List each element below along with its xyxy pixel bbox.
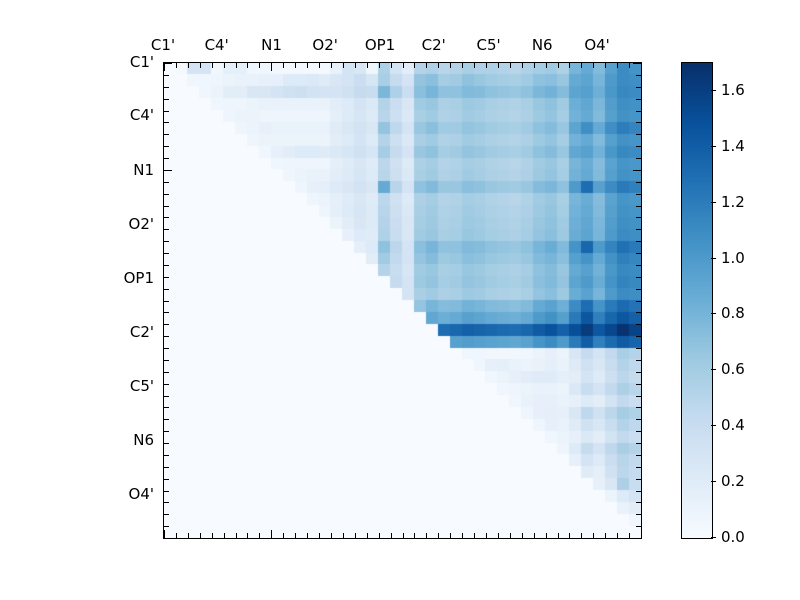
y-tick-label: C2' [0, 323, 154, 341]
y-tick-label: O2' [0, 215, 154, 233]
colorbar-tick-label: 0.8 [721, 304, 745, 322]
colorbar-tick [711, 369, 716, 370]
colorbar-tick [711, 481, 716, 482]
colorbar-tick [711, 146, 716, 147]
y-tick-label: OP1 [0, 269, 154, 287]
y-tick-label: C1' [0, 53, 154, 71]
y-tick-label: N1 [0, 161, 154, 179]
x-tick-label: N1 [261, 36, 282, 54]
colorbar-tick-label: 0.6 [721, 360, 745, 378]
y-axis-ticks-right [164, 63, 641, 538]
y-tick-label: C4' [0, 106, 154, 124]
colorbar-tick-label: 0.0 [721, 528, 745, 546]
x-tick-label: C2' [422, 36, 446, 54]
x-tick-label: O4' [584, 36, 609, 54]
colorbar-tick-label: 1.0 [721, 249, 745, 267]
colorbar-tick-label: 1.2 [721, 193, 745, 211]
colorbar-tick-label: 0.2 [721, 472, 745, 490]
y-tick-label: N6 [0, 431, 154, 449]
colorbar-tick [711, 537, 716, 538]
x-tick-label: O2' [312, 36, 337, 54]
colorbar-ticks: 0.00.20.40.60.81.01.21.41.6 [681, 62, 800, 537]
y-tick-label: O4' [0, 485, 154, 503]
colorbar-tick-label: 1.6 [721, 81, 745, 99]
x-tick-label: C1' [151, 36, 175, 54]
colorbar-tick [711, 90, 716, 91]
colorbar-tick [711, 313, 716, 314]
heatmap-axes [163, 62, 642, 539]
colorbar-tick [711, 258, 716, 259]
x-tick-label: C5' [476, 36, 500, 54]
figure-canvas: C1'C4'N1O2'OP1C2'C5'N6O4' C1'C4'N1O2'OP1… [0, 0, 800, 600]
colorbar-tick [711, 425, 716, 426]
y-tick-label: C5' [0, 377, 154, 395]
colorbar-tick-label: 0.4 [721, 416, 745, 434]
x-tick-label: OP1 [365, 36, 395, 54]
x-tick-label: C4' [205, 36, 229, 54]
x-tick-label: N6 [532, 36, 553, 54]
colorbar-tick-label: 1.4 [721, 137, 745, 155]
colorbar-tick [711, 202, 716, 203]
